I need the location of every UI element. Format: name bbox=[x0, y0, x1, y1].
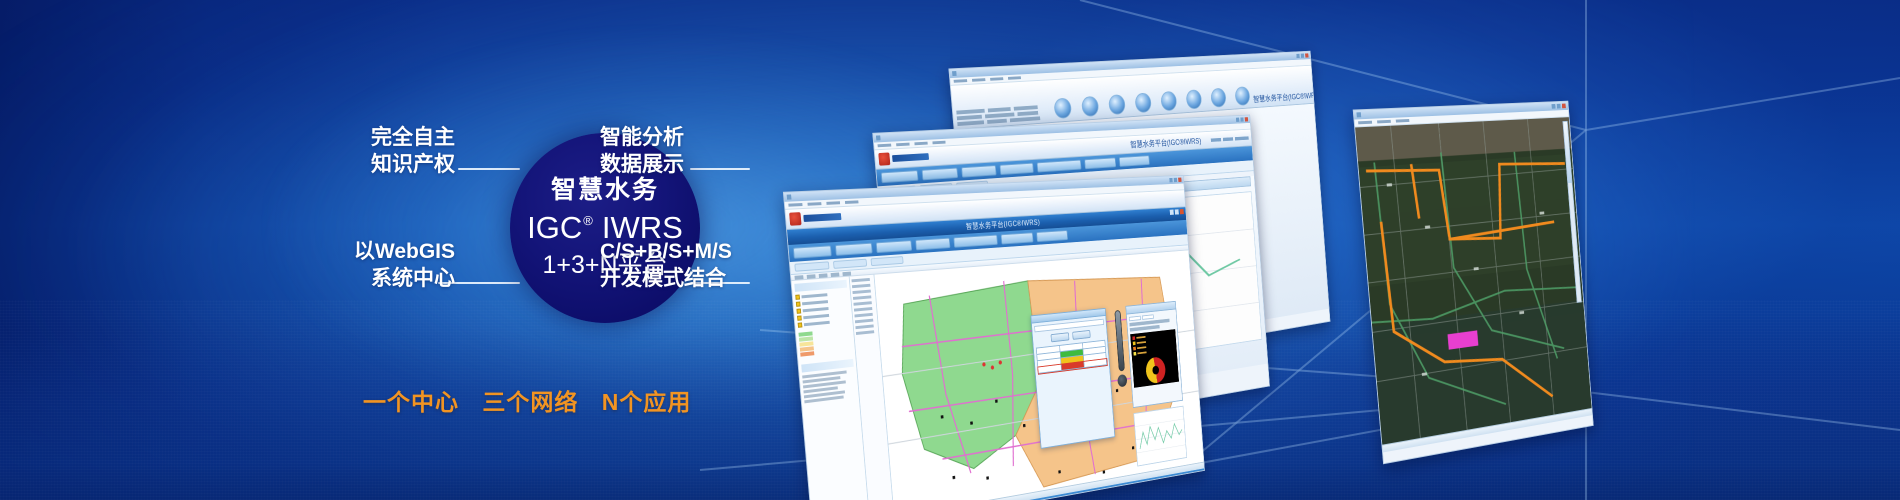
layer-checkbox-icon[interactable] bbox=[796, 308, 801, 313]
legend-color-lightyellow bbox=[1133, 352, 1136, 356]
window-app-title: 智慧水务平台(IGC®IWRS) bbox=[966, 218, 1041, 231]
legend-color-yellow bbox=[1133, 342, 1136, 346]
menu-item-help[interactable] bbox=[1008, 76, 1021, 80]
feature-line1: C/S+B/S+M/S bbox=[600, 240, 732, 263]
subnav-item-2[interactable] bbox=[833, 259, 867, 269]
feature-dev-modes: C/S+B/S+M/S 开发模式结合 bbox=[600, 238, 732, 293]
menu-item-view[interactable] bbox=[990, 77, 1003, 81]
close-icon[interactable] bbox=[1178, 178, 1181, 182]
nav-item-5[interactable] bbox=[953, 235, 997, 248]
minimize-icon[interactable] bbox=[1552, 104, 1556, 109]
toolbar-icon-3[interactable] bbox=[1108, 94, 1126, 115]
dashboard-select-1[interactable] bbox=[1129, 316, 1141, 322]
subnav-item-3[interactable] bbox=[871, 256, 904, 266]
tagline: 一个中心 三个网络 N个应用 bbox=[363, 383, 691, 417]
layer-panel-header bbox=[794, 280, 847, 292]
brand-wordmark bbox=[803, 213, 841, 222]
window-buttons[interactable] bbox=[1170, 209, 1184, 215]
app-window-front[interactable]: 智慧水务平台(IGC®IWRS) bbox=[783, 175, 1205, 500]
nav-item-3[interactable] bbox=[876, 240, 912, 253]
map-query-dialog[interactable] bbox=[1030, 308, 1115, 449]
toolbar-icon-4[interactable] bbox=[1134, 93, 1151, 114]
app-logo bbox=[789, 210, 842, 226]
connector-line-top-right bbox=[690, 168, 750, 170]
monitoring-dashboard-panel[interactable] bbox=[1125, 301, 1183, 408]
pie-legend-item bbox=[1133, 351, 1146, 356]
window-front-body bbox=[791, 250, 1203, 500]
tagline-part-2: 三个网络 bbox=[482, 389, 578, 415]
nav-item-4[interactable] bbox=[915, 238, 950, 251]
menu-item-file[interactable] bbox=[1358, 121, 1372, 125]
header-link-2[interactable] bbox=[1223, 137, 1233, 141]
nav-item-7[interactable] bbox=[1119, 155, 1150, 167]
legend-color-red bbox=[1132, 336, 1135, 340]
window-controls[interactable] bbox=[1169, 178, 1181, 183]
legend-color-orange bbox=[1133, 347, 1136, 351]
close-icon[interactable] bbox=[1245, 117, 1248, 121]
dialog-result-table[interactable] bbox=[1036, 340, 1107, 374]
app-window-satellite[interactable] bbox=[1353, 101, 1594, 465]
minimize-icon[interactable] bbox=[1296, 54, 1299, 58]
feature-line1: 完全自主 bbox=[371, 126, 455, 149]
feature-line2: 开发模式结合 bbox=[600, 265, 732, 292]
window-icon bbox=[1356, 112, 1361, 117]
menu-item-edit[interactable] bbox=[896, 143, 910, 147]
toolbar-icon-2[interactable] bbox=[1081, 96, 1099, 117]
window-controls[interactable] bbox=[1552, 104, 1566, 109]
pan-compass-icon[interactable] bbox=[1117, 374, 1127, 387]
nav-item-2[interactable] bbox=[835, 243, 873, 256]
window-icon bbox=[952, 71, 957, 76]
minimize-icon[interactable] bbox=[1170, 210, 1174, 215]
layer-tree[interactable] bbox=[795, 291, 850, 328]
layer-checkbox-icon[interactable] bbox=[795, 295, 800, 300]
restore-icon[interactable] bbox=[1175, 209, 1179, 214]
screenshot-stack: 智慧水务平台(IGC®IWRS) bbox=[790, 40, 1900, 470]
feature-line2: 系统中心 bbox=[288, 265, 455, 292]
minimize-icon[interactable] bbox=[1169, 178, 1172, 182]
layer-checkbox-icon[interactable] bbox=[796, 301, 801, 306]
window-app-title: 智慧水务平台(IGC®IWRS) bbox=[1253, 89, 1321, 105]
connector-line-top-left bbox=[458, 168, 520, 170]
feature-smart-analysis: 智能分析 数据展示 bbox=[600, 124, 684, 179]
satellite-map-canvas[interactable] bbox=[1355, 117, 1591, 445]
toolbar-icon-1[interactable] bbox=[1053, 98, 1072, 119]
gis-tool-measure-icon[interactable] bbox=[831, 272, 840, 277]
header-link-1[interactable] bbox=[1211, 138, 1221, 142]
dashboard-body[interactable] bbox=[1127, 309, 1181, 390]
ribbon-command-grid[interactable] bbox=[956, 105, 1040, 126]
nav-item-7[interactable] bbox=[1036, 230, 1068, 242]
maximize-icon[interactable] bbox=[1557, 104, 1561, 109]
app-logo bbox=[878, 150, 929, 165]
header-link-3[interactable] bbox=[1235, 136, 1249, 140]
dialog-confirm-button[interactable] bbox=[1050, 332, 1069, 342]
dialog-cancel-button[interactable] bbox=[1072, 330, 1090, 340]
feature-line2: 知识产权 bbox=[305, 151, 455, 178]
menu-item-file[interactable] bbox=[954, 79, 968, 83]
menu-item-file[interactable] bbox=[788, 203, 802, 207]
gis-tool-query-icon[interactable] bbox=[842, 272, 851, 277]
gis-tool-pan-icon[interactable] bbox=[807, 274, 816, 279]
nav-item-6[interactable] bbox=[1001, 232, 1034, 244]
menu-item-file[interactable] bbox=[878, 144, 892, 148]
feature-independent-ip: 完全自主 知识产权 bbox=[305, 124, 455, 179]
tagline-part-3: N个应用 bbox=[602, 389, 692, 415]
maximize-icon[interactable] bbox=[1174, 178, 1177, 182]
badge-chinese-title: 智慧水务 bbox=[551, 178, 659, 203]
minimize-icon[interactable] bbox=[1236, 118, 1239, 122]
map-legend bbox=[798, 328, 852, 357]
subnav-item-1[interactable] bbox=[794, 261, 829, 271]
window-app-title: 智慧水务平台(IGC®IWRS) bbox=[1130, 135, 1202, 150]
menu-item-edit[interactable] bbox=[807, 202, 821, 206]
menu-item-window[interactable] bbox=[845, 200, 859, 204]
pie-chart-widget bbox=[1130, 329, 1179, 388]
pie-legend-item bbox=[1133, 345, 1146, 350]
pie-chart bbox=[1145, 356, 1166, 384]
pie-legend bbox=[1132, 335, 1146, 356]
legend-swatch-darkorange bbox=[800, 351, 814, 356]
water-drop-icon bbox=[789, 212, 801, 226]
gis-tool-select-icon[interactable] bbox=[794, 275, 803, 280]
toolbar-icon-8[interactable] bbox=[1235, 86, 1251, 106]
menu-item-layers[interactable] bbox=[1377, 120, 1391, 124]
nav-item-1[interactable] bbox=[881, 170, 919, 183]
close-icon[interactable] bbox=[1562, 104, 1566, 109]
nav-item-2[interactable] bbox=[922, 168, 958, 181]
badge-en-name: IGC bbox=[527, 212, 582, 243]
window-controls[interactable] bbox=[1236, 117, 1248, 122]
toolbar-icon-5[interactable] bbox=[1160, 91, 1177, 111]
window-icon bbox=[787, 194, 792, 199]
brand-wordmark bbox=[892, 153, 929, 162]
trend-chart-widget bbox=[1133, 406, 1187, 467]
maximize-icon[interactable] bbox=[1240, 117, 1243, 121]
maximize-icon[interactable] bbox=[1301, 54, 1304, 58]
dashboard-select-2[interactable] bbox=[1142, 314, 1154, 320]
window-icon bbox=[876, 135, 881, 140]
registered-mark-icon: ® bbox=[583, 214, 593, 227]
banner-stage: 智慧水务 IGC ® IWRS 1+3+N平台 完全自主 知识产权 以WebGI… bbox=[0, 0, 1900, 500]
gis-tool-zoom-icon[interactable] bbox=[819, 273, 828, 278]
layer-checkbox-icon[interactable] bbox=[797, 315, 802, 320]
feature-line2: 数据展示 bbox=[600, 151, 684, 178]
pie-legend-item bbox=[1132, 335, 1145, 340]
toolbar-icon-7[interactable] bbox=[1210, 88, 1226, 108]
pie-legend-item bbox=[1133, 340, 1146, 345]
nav-item-3[interactable] bbox=[961, 165, 996, 178]
window-controls[interactable] bbox=[1296, 53, 1308, 58]
nav-item-6[interactable] bbox=[1084, 157, 1116, 169]
water-drop-icon bbox=[878, 152, 890, 165]
gis-map-canvas[interactable] bbox=[874, 250, 1203, 500]
feature-webgis-core: 以WebGIS 系统中心 bbox=[288, 238, 455, 293]
close-icon[interactable] bbox=[1305, 53, 1308, 57]
nav-item-4[interactable] bbox=[1000, 163, 1034, 175]
header-links[interactable] bbox=[1211, 136, 1249, 142]
close-icon[interactable] bbox=[1180, 209, 1184, 214]
attribute-panel bbox=[801, 359, 856, 403]
menu-item-view[interactable] bbox=[826, 201, 840, 205]
menu-item-view[interactable] bbox=[914, 142, 927, 146]
dialog-body[interactable] bbox=[1032, 316, 1109, 377]
toolbar-icon-6[interactable] bbox=[1186, 89, 1203, 109]
feature-line1: 以WebGIS bbox=[354, 240, 455, 263]
tagline-part-1: 一个中心 bbox=[363, 389, 459, 415]
menu-item-tools[interactable] bbox=[932, 141, 945, 145]
menu-item-tools[interactable] bbox=[1396, 119, 1410, 123]
menu-item-edit[interactable] bbox=[972, 78, 985, 82]
feature-line1: 智能分析 bbox=[600, 126, 684, 149]
nav-item-5[interactable] bbox=[1037, 160, 1082, 173]
nav-item-1[interactable] bbox=[793, 245, 832, 258]
layer-checkbox-icon[interactable] bbox=[798, 322, 803, 327]
attribute-list bbox=[802, 370, 856, 404]
